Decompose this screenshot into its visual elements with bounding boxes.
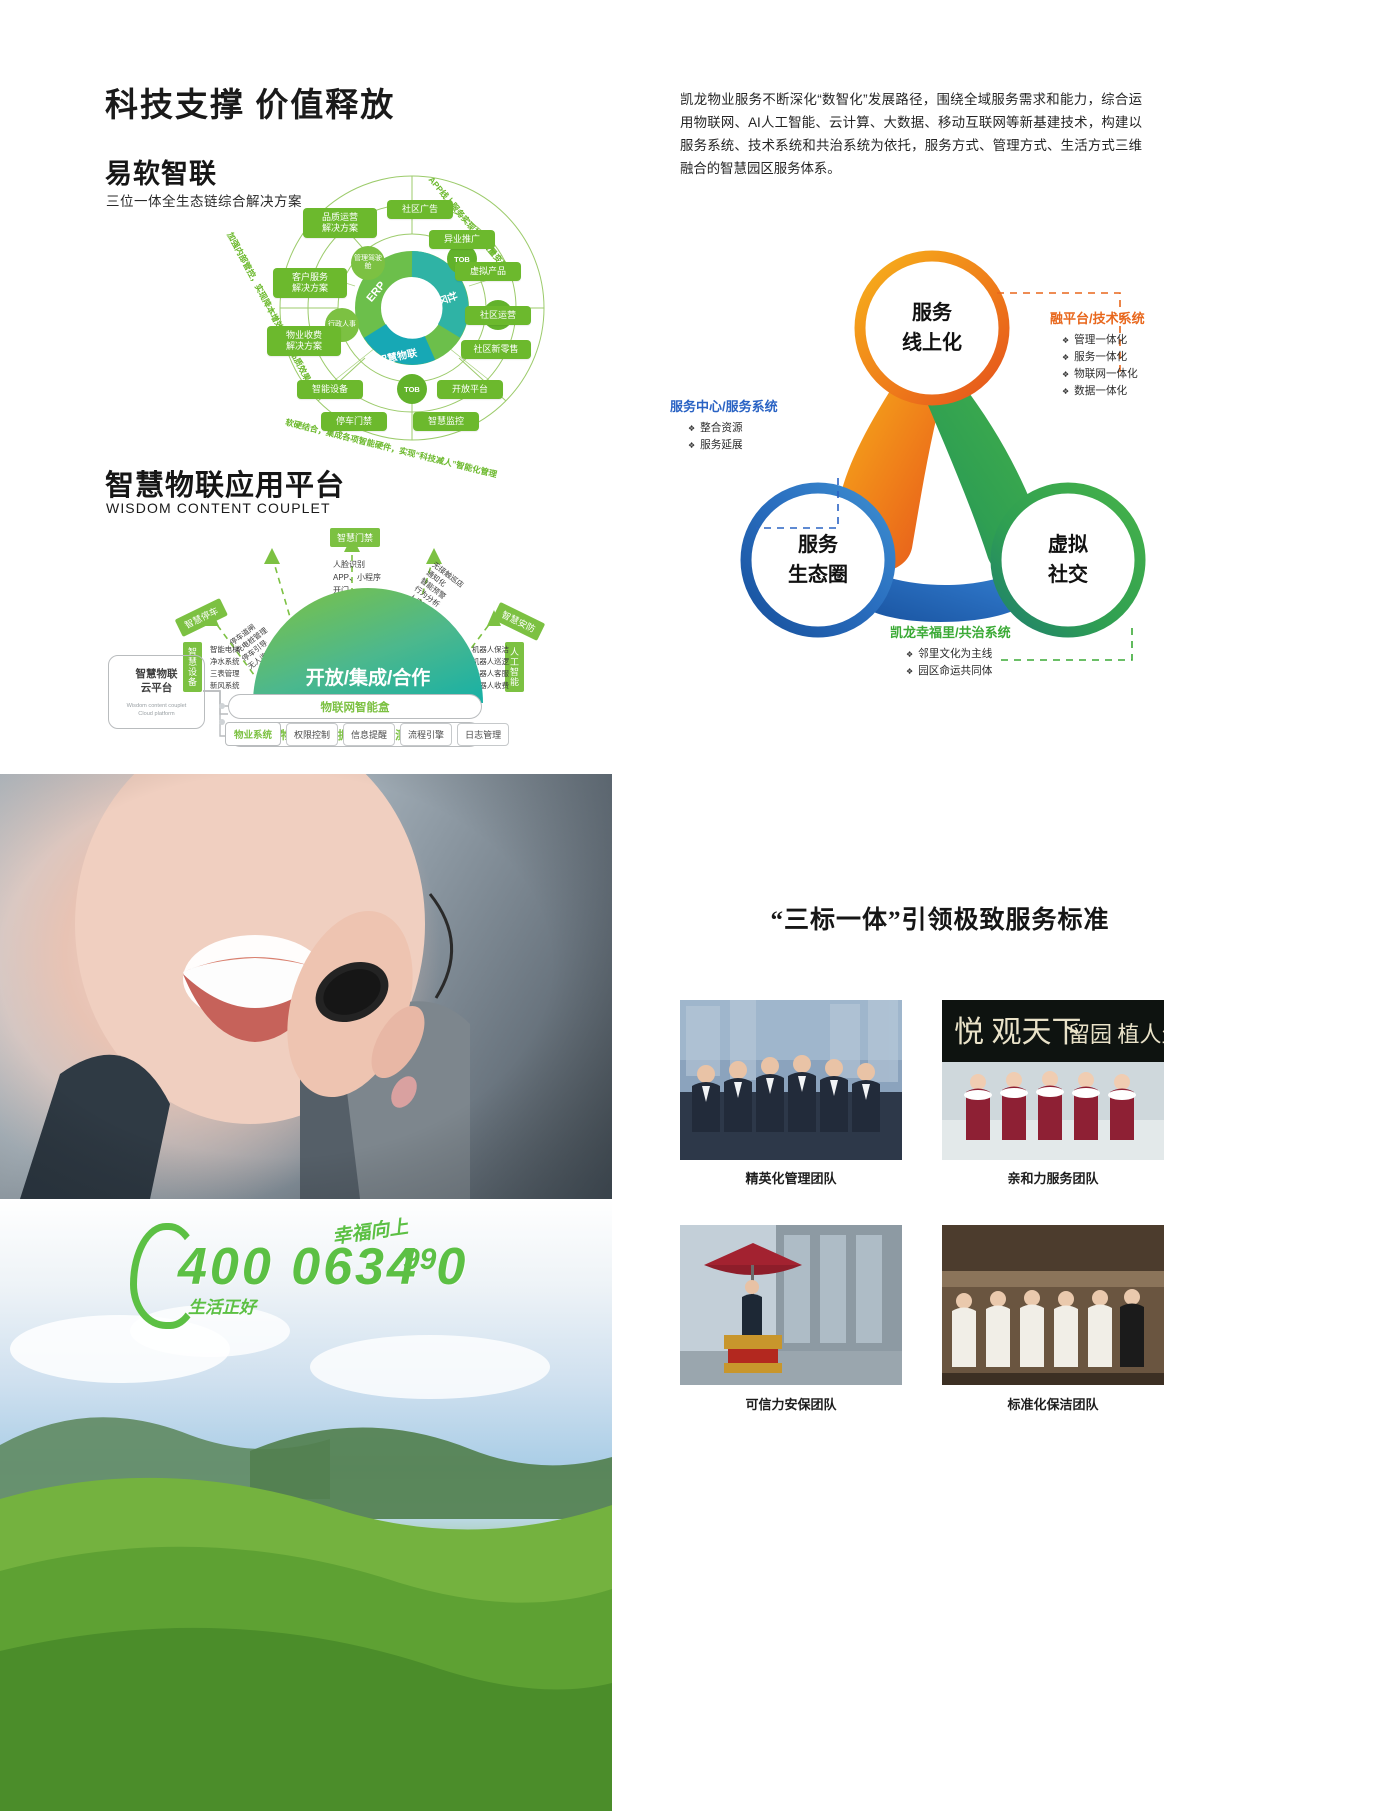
trefoil-node-online: 服务 线上化 — [880, 298, 984, 358]
team-photo-cleaning — [942, 1225, 1164, 1385]
system-chip-notification[interactable]: 信息提醒 — [343, 723, 395, 746]
security-team-illustration — [680, 1225, 902, 1385]
platform-system-row: 物业系统 权限控制 信息提醒 流程引擎 日志管理 — [225, 722, 509, 746]
system-main-property[interactable]: 物业系统 — [225, 722, 281, 746]
team-photo-security — [680, 1225, 902, 1385]
eco-box-parking-access[interactable]: 停车门禁 — [321, 412, 387, 431]
trefoil-label-service-center: 服务中心/服务系统 — [670, 396, 778, 415]
team-photo-management — [680, 1000, 902, 1160]
platform-tag-smart-access[interactable]: 智慧门禁 — [330, 528, 380, 547]
system-chip-workflow[interactable]: 流程引擎 — [400, 723, 452, 746]
eco-box-fee-solution[interactable]: 物业收费 解决方案 — [267, 326, 341, 356]
trefoil-node-social: 虚拟 社交 — [1016, 530, 1120, 590]
trefoil-label-tech-system: 融平台/技术系统 — [1050, 308, 1145, 327]
cleaning-team-illustration — [942, 1225, 1164, 1385]
management-team-illustration — [680, 1000, 902, 1160]
photo-overlay-left-text: 悦 观天下 — [954, 1016, 1082, 1049]
caption-cleaning-team: 标准化保洁团队 — [942, 1394, 1164, 1413]
eco-box-community-ops[interactable]: 社区运营 — [465, 306, 531, 325]
eco-box-virtual-products[interactable]: 虚拟产品 — [455, 262, 521, 281]
trefoil-bullets-cogov-system: 邻里文化为主线 园区命运共同体 — [906, 646, 992, 680]
brochure-page: 科技支撑 价值释放 凯龙物业服务不断深化“数智化”发展路径，围绕全域服务需求和能… — [0, 0, 1400, 1811]
eco-box-quality-ops[interactable]: 品质运营 解决方案 — [303, 208, 377, 238]
cloud-platform-name: 智慧物联 云平台 — [136, 667, 178, 695]
platform-cloud-platform[interactable]: 智慧物联 云平台 Wisdom content couplet Cloud pl… — [108, 655, 205, 729]
platform-bar-iot-box[interactable]: 物联网智能盒 — [228, 694, 482, 719]
trefoil-bullets-service-center: 整合资源 服务延展 — [688, 420, 743, 454]
platform-section-title: 智慧物联应用平台 — [105, 462, 345, 504]
service-team-illustration: 悦 观天下 留园 植人生 — [942, 1000, 1164, 1160]
trefoil-diagram: 服务 线上化 服务 生态圈 虚拟 社交 服务中心/服务系统 整合资源 服务延展 … — [700, 250, 1180, 680]
cloud-platform-en: Wisdom content couplet Cloud platform — [127, 702, 187, 718]
caption-management-team: 精英化管理团队 — [680, 1168, 902, 1187]
system-chip-logs[interactable]: 日志管理 — [457, 723, 509, 746]
hotline-number-superscript: 99 — [403, 1243, 436, 1277]
ecosystem-diagram: 加强内部管控，实现降本增效，提升品质效果 APP线上服务实现社区流量变现 软硬结… — [225, 168, 600, 448]
platform-items-smart-equipment: 智能电梯 净水系统 三表管理 新风系统 — [210, 644, 240, 692]
call-center-illustration — [0, 774, 612, 1199]
eco-box-community-ads[interactable]: 社区广告 — [387, 200, 453, 219]
eco-pill-tob-bottom[interactable]: TOB — [397, 374, 427, 404]
trefoil-bullets-tech-system: 管理一体化 服务一体化 物联网一体化 数据一体化 — [1062, 332, 1138, 400]
hotline-slogan-bottom: 生活正好 — [188, 1293, 256, 1318]
eco-box-smart-device[interactable]: 智能设备 — [297, 380, 363, 399]
eco-box-new-retail[interactable]: 社区新零售 — [461, 340, 531, 359]
eco-box-customer-service[interactable]: 客户服务 解决方案 — [273, 268, 347, 298]
eco-box-open-platform[interactable]: 开放平台 — [437, 380, 503, 399]
intro-paragraph: 凯龙物业服务不断深化“数智化”发展路径，围绕全域服务需求和能力，综合运用物联网、… — [680, 88, 1142, 180]
trefoil-node-ecosystem: 服务 生态圈 — [766, 530, 870, 590]
trefoil-label-cogov-system: 凯龙幸福里/共治系统 — [890, 622, 1011, 641]
call-center-photo — [0, 774, 612, 1199]
eco-section-title: 易软智联 — [105, 152, 217, 191]
eco-box-smart-monitor[interactable]: 智慧监控 — [413, 412, 479, 431]
page-title: 科技支撑 价值释放 — [105, 78, 395, 126]
caption-security-team: 可信力安保团队 — [680, 1394, 902, 1413]
system-chip-permission[interactable]: 权限控制 — [286, 723, 338, 746]
caption-service-team: 亲和力服务团队 — [942, 1168, 1164, 1187]
eco-chip-cockpit[interactable]: 管理驾驶舱 — [351, 246, 385, 280]
hotline-graphic: 幸福向上 400 0634 0 99 生活正好 — [130, 1215, 490, 1325]
eco-box-cross-promo[interactable]: 异业推广 — [429, 230, 495, 249]
standards-heading: “三标一体”引领极致服务标准 — [700, 900, 1180, 936]
platform-diagram: 智慧停车 停车道闸 充电桩管理 停车引导 无人收费 智慧门禁 人脸识别 APP、… — [100, 500, 600, 765]
team-photo-service: 悦 观天下 留园 植人生 — [942, 1000, 1164, 1160]
photo-overlay-right-text: 留园 植人生 — [1068, 1022, 1164, 1047]
